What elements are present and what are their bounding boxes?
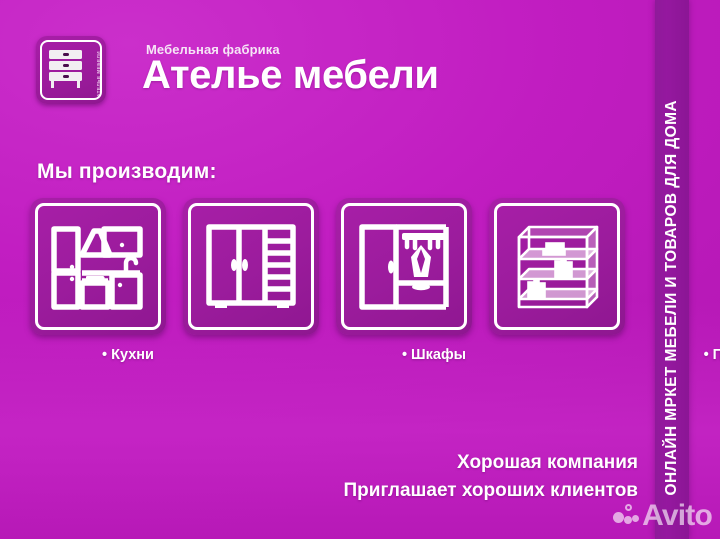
side-banner-text: ОНЛАЙН МРКЕТ МЕБЕЛИ И ТОВАРОВ ДЛЯ ДОМА	[655, 100, 689, 496]
avito-logo-icon	[613, 503, 639, 529]
brand-title: Ателье мебели	[142, 52, 439, 98]
wardrobe-icon	[199, 215, 303, 319]
product-label-hallways: • Прихожи	[645, 347, 720, 363]
hallway-icon	[352, 215, 456, 319]
product-card-wardrobes[interactable]: • Шкафы	[183, 198, 319, 335]
logo-badge: АТЕЛЬЕ МЕБЕЛИ	[36, 36, 106, 104]
logo-badge-vertical-text: АТЕЛЬЕ МЕБЕЛИ	[96, 43, 101, 97]
product-card-hallways[interactable]: • Прихожи	[336, 198, 472, 335]
tagline-line-1: Хорошая компания	[344, 449, 638, 477]
avito-wordmark: Avito	[642, 501, 712, 531]
product-card-list: • Кухни • Шкафы	[0, 198, 660, 378]
product-label-wardrobes: • Шкафы	[339, 347, 529, 363]
kitchen-icon	[46, 215, 150, 319]
tagline: Хорошая компания Приглашает хороших клие…	[344, 449, 638, 505]
avito-watermark: Avito	[613, 497, 712, 535]
product-card-closets[interactable]: • Гардеробные	[489, 198, 625, 335]
product-card-kitchens[interactable]: • Кухни	[30, 198, 166, 335]
product-label-kitchens: • Кухни	[33, 347, 223, 363]
advertisement-banner: ОНЛАЙН МРКЕТ МЕБЕЛИ И ТОВАРОВ ДЛЯ ДОМА А…	[0, 0, 720, 539]
side-banner-stripe: ОНЛАЙН МРКЕТ МЕБЕЛИ И ТОВАРОВ ДЛЯ ДОМА	[655, 0, 689, 539]
dresser-icon	[49, 50, 82, 88]
section-heading: Мы производим:	[37, 160, 217, 184]
tagline-line-2: Приглашает хороших клиентов	[344, 477, 638, 505]
shelving-icon	[505, 215, 609, 319]
